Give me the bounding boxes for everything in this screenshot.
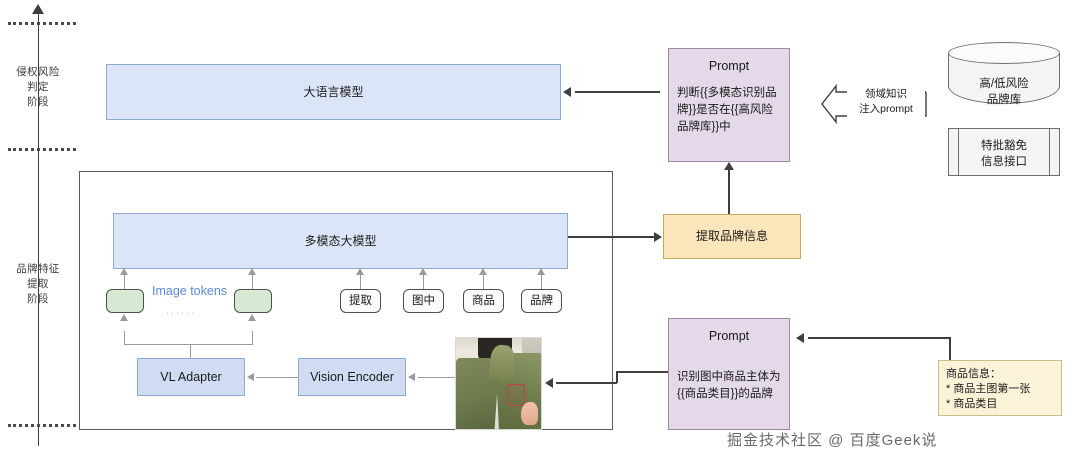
stage-divider-top <box>8 22 76 25</box>
photo-jacket-collar <box>488 344 515 383</box>
node-vl-adapter-label: VL Adapter <box>160 369 221 386</box>
text-token-1-label: 图中 <box>412 293 435 310</box>
edge-note-to-prompt-arrow <box>796 333 804 343</box>
edge-token-4-arrow <box>419 268 427 275</box>
node-vl-adapter[interactable]: VL Adapter <box>137 358 245 396</box>
edge-token-5-arrow <box>479 268 487 275</box>
edge-prompt-to-llm-line <box>575 91 660 93</box>
edge-mllm-to-extract-arrow <box>654 232 662 242</box>
edge-token-1-arrow <box>120 268 128 275</box>
interface-special-exemption[interactable]: 特批豁免 信息接口 <box>948 128 1060 176</box>
edge-token-1-line <box>124 273 125 289</box>
edge-token-6-line <box>541 273 542 289</box>
edge-adapter-to-token2-line <box>252 331 253 345</box>
edge-adapter-to-token1-line <box>124 331 125 345</box>
edge-mllm-to-extract-line <box>568 236 656 238</box>
edge-extract-to-prompt-arrow <box>724 162 734 170</box>
node-extract-brand-info[interactable]: 提取品牌信息 <box>663 214 801 259</box>
image-token-last[interactable] <box>234 289 272 313</box>
edge-token-2-line <box>252 273 253 289</box>
node-mllm-label: 多模态大模型 <box>304 233 376 250</box>
edge-token-5-line <box>483 273 484 289</box>
image-tokens-label: Image tokens <box>152 284 227 298</box>
database-high-low-risk-brands[interactable]: 高/低风险 品牌库 <box>948 42 1060 104</box>
edge-extract-to-prompt-line <box>728 170 730 214</box>
watermark: 掘金技术社区 @ 百度Geek说 <box>727 429 937 450</box>
node-vision-encoder[interactable]: Vision Encoder <box>298 358 406 396</box>
prompt-top-title: Prompt <box>669 59 789 73</box>
text-token-3-label: 品牌 <box>530 293 553 310</box>
node-extract-brand-label: 提取品牌信息 <box>696 228 768 245</box>
prompt-box-risk-judgement[interactable]: Prompt 判断{{多模态识别品牌}}是否在{{高风险品牌库}}中 <box>668 48 790 162</box>
text-token-1[interactable]: 图中 <box>403 289 444 313</box>
edge-prompt-to-llm-arrow <box>563 87 571 97</box>
interface-label: 特批豁免 信息接口 <box>949 138 1059 170</box>
edge-token-3-arrow <box>356 268 364 275</box>
edge-prompt-to-photo-top <box>616 371 668 373</box>
photo-hand <box>521 402 538 426</box>
prompt-top-body: 判断{{多模态识别品牌}}是否在{{高风险品牌库}}中 <box>677 85 783 136</box>
edge-adapter-stem <box>190 344 191 359</box>
stage-divider-middle <box>8 148 76 151</box>
node-large-language-model[interactable]: 大语言模型 <box>106 64 561 120</box>
edge-encoder-to-adapter-line <box>256 377 298 378</box>
text-token-2-label: 商品 <box>472 293 495 310</box>
edge-photo-to-encoder-line <box>418 377 456 378</box>
edge-token-4-line <box>423 273 424 289</box>
edge-encoder-to-adapter-arrow <box>247 373 254 381</box>
edge-token-2-arrow <box>248 268 256 275</box>
knowledge-arrow-label-line2: 注入prompt <box>847 102 925 117</box>
text-token-2[interactable]: 商品 <box>463 289 504 313</box>
edge-note-stem <box>949 337 951 361</box>
edge-prompt-to-photo-arrow <box>545 378 553 388</box>
edge-photo-to-encoder-arrow <box>408 373 415 381</box>
cylinder-top <box>948 42 1060 64</box>
text-token-3[interactable]: 品牌 <box>521 289 562 313</box>
logo-detection-box <box>507 384 525 406</box>
edge-token-6-arrow <box>537 268 545 275</box>
prompt-bottom-title: Prompt <box>669 329 789 343</box>
note-product-info[interactable]: 商品信息： * 商品主图第一张 * 商品类目 <box>938 360 1062 416</box>
product-main-image[interactable] <box>455 337 542 430</box>
edge-adapter-to-token1-arrow <box>120 314 128 321</box>
node-multimodal-large-model[interactable]: 多模态大模型 <box>113 213 568 269</box>
edge-adapter-bracket <box>124 344 253 345</box>
text-token-0[interactable]: 提取 <box>340 289 381 313</box>
database-label: 高/低风险 品牌库 <box>948 76 1060 108</box>
note-product-info-text: 商品信息： * 商品主图第一张 * 商品类目 <box>946 367 1057 412</box>
stage-label-risk-judgement: 侵权风险 判定 阶段 <box>2 65 74 110</box>
text-token-0-label: 提取 <box>349 293 372 310</box>
node-llm-label: 大语言模型 <box>303 84 363 101</box>
prompt-box-brand-recognition[interactable]: Prompt 识别图中商品主体为{{商品类目}}的品牌 <box>668 318 790 430</box>
edge-token-3-line <box>360 273 361 289</box>
edge-note-to-prompt-line <box>808 337 950 339</box>
edge-adapter-to-token2-arrow <box>248 314 256 321</box>
stage-label-feature-extraction: 品牌特征 提取 阶段 <box>2 262 74 307</box>
diagram-canvas: 侵权风险 判定 阶段 品牌特征 提取 阶段 大语言模型 Prompt 判断{{多… <box>0 0 1080 456</box>
knowledge-arrow-label-line1: 领域知识 <box>847 87 925 102</box>
node-vision-encoder-label: Vision Encoder <box>310 369 394 386</box>
edge-prompt-to-photo-bottom <box>556 382 617 384</box>
prompt-bottom-body: 识别图中商品主体为{{商品类目}}的品牌 <box>677 369 783 403</box>
stage-divider-bottom <box>8 424 76 427</box>
image-tokens-ellipsis: ...... <box>166 305 196 317</box>
knowledge-injection-annotation: 领域知识 注入prompt <box>818 84 928 124</box>
image-token-first[interactable] <box>106 289 144 313</box>
